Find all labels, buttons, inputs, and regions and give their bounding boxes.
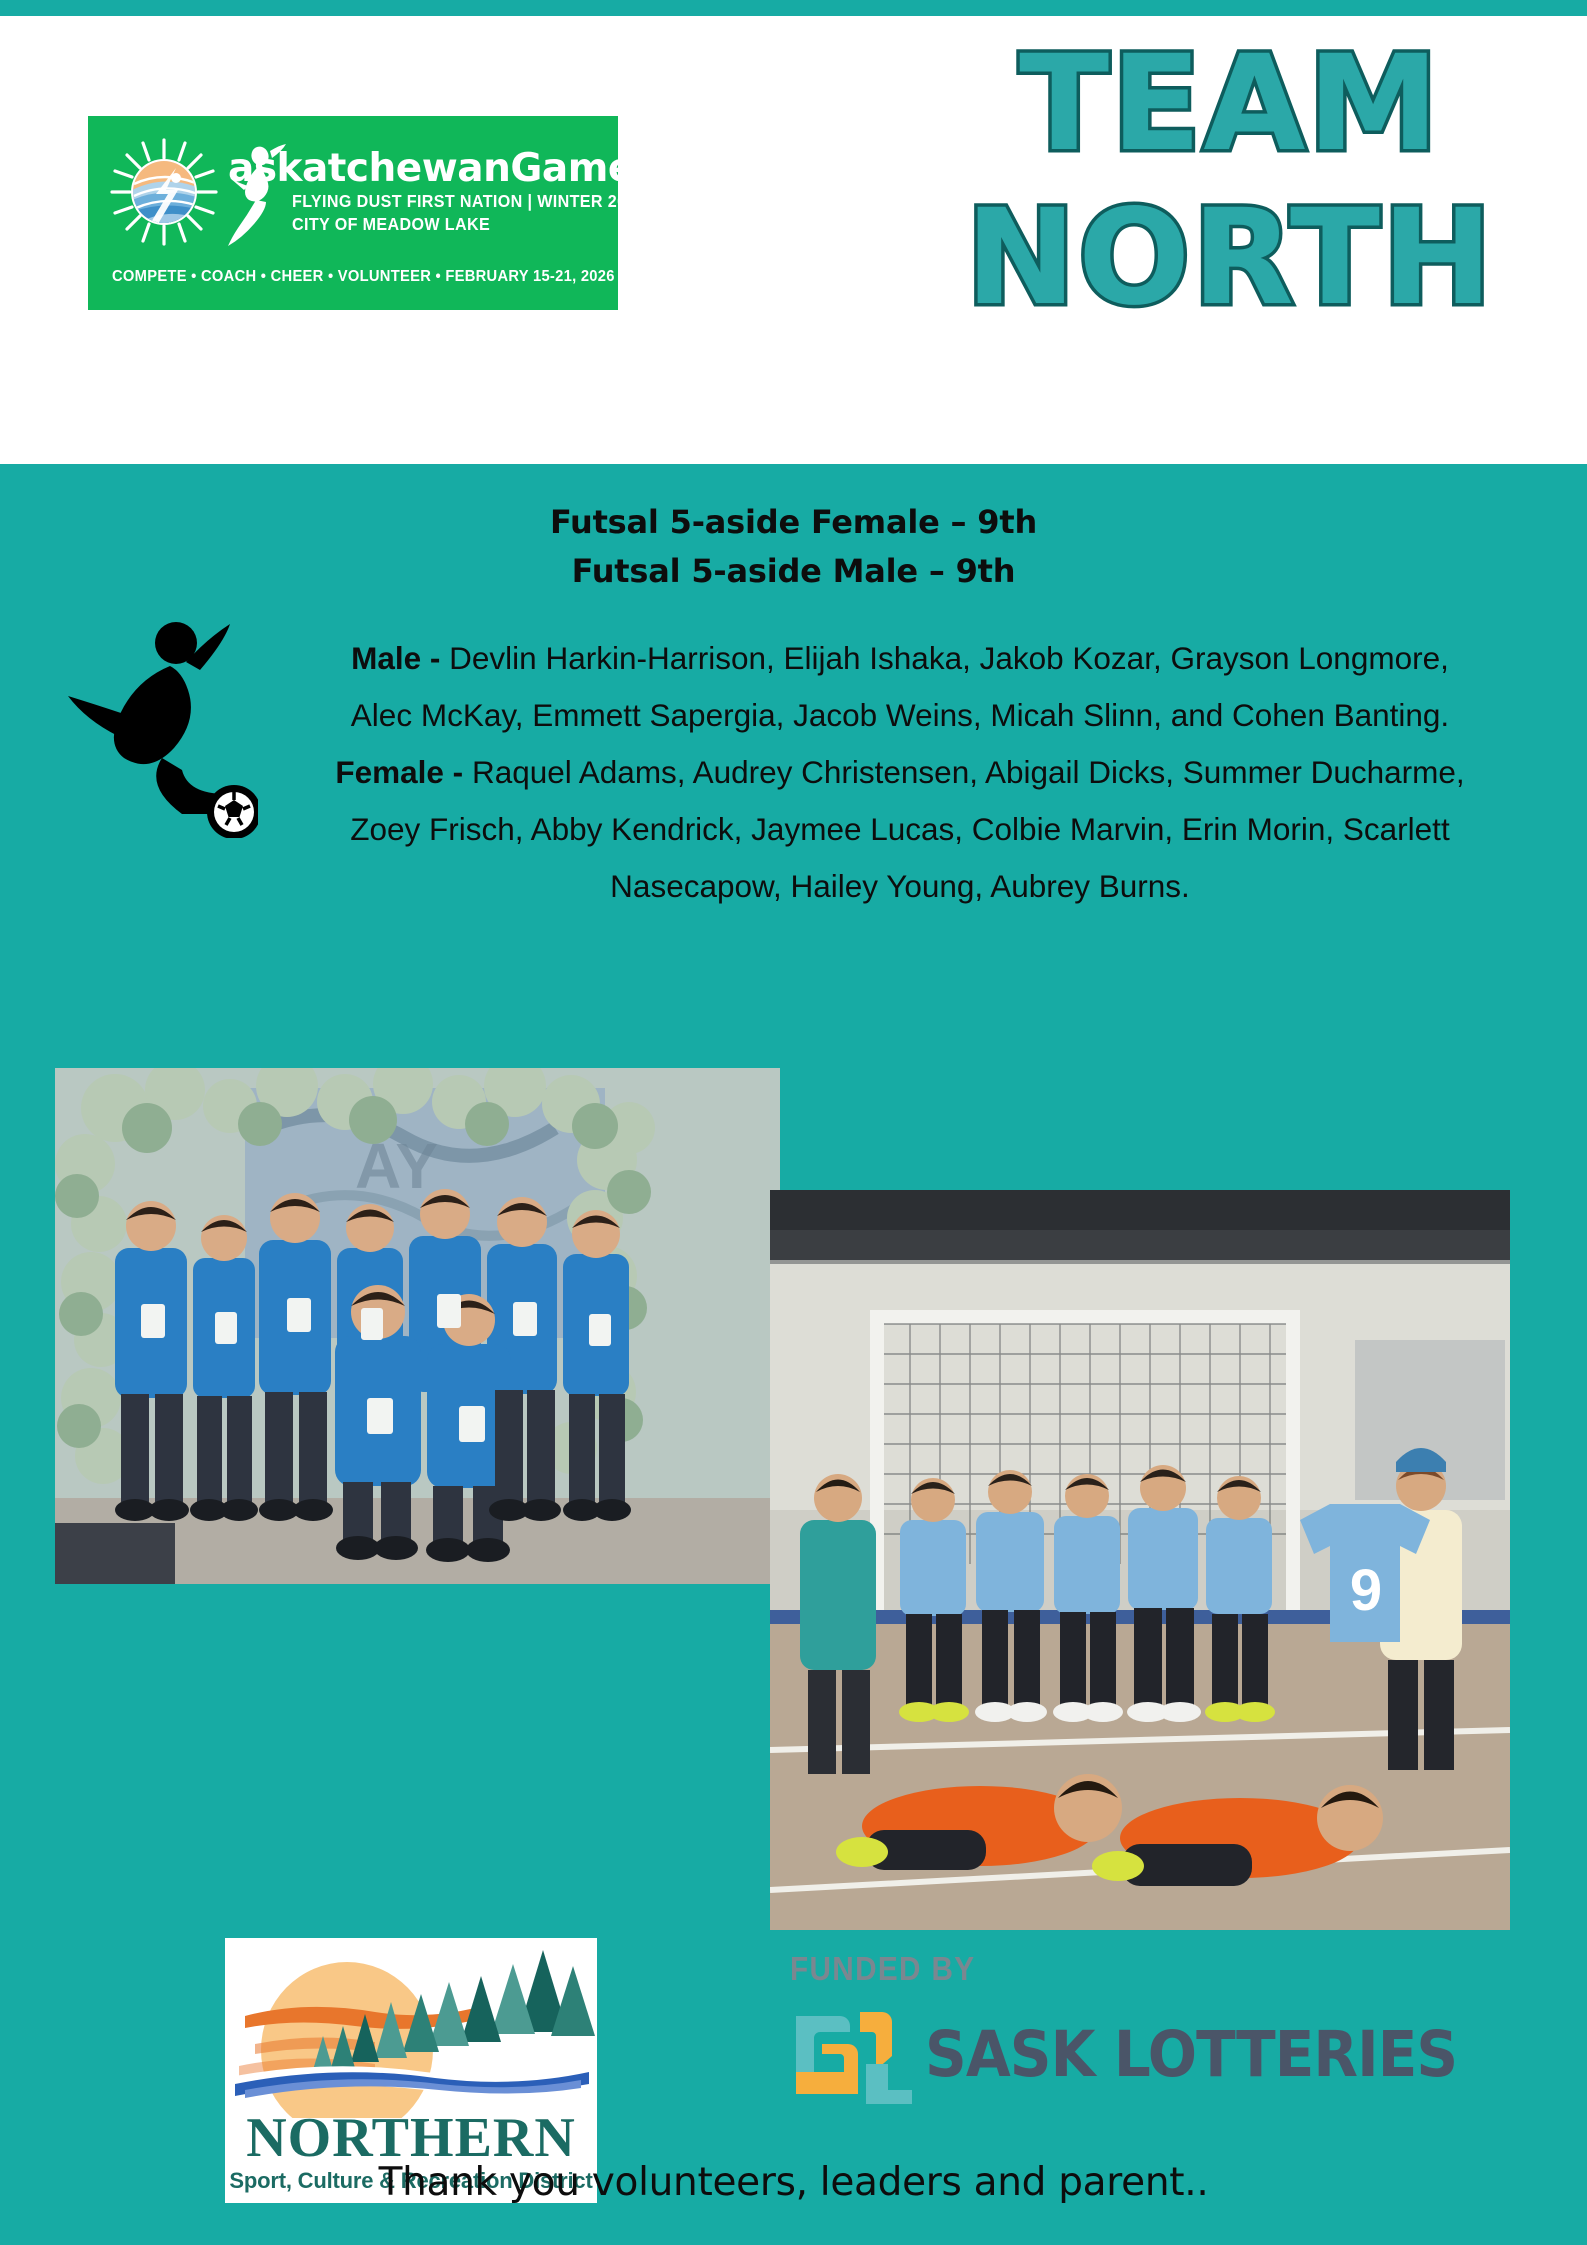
result-line-female: Futsal 5-aside Female – 9th xyxy=(0,498,1587,547)
futsal-team-photo-gymnasium-goal: 9 xyxy=(770,1190,1510,1930)
sport-results: Futsal 5-aside Female – 9th Futsal 5-asi… xyxy=(0,498,1587,596)
soccer-player-with-ball-icon xyxy=(58,618,258,838)
snowflake-sun-water-icon xyxy=(110,138,218,246)
title-line-team: TEAM xyxy=(900,38,1560,170)
top-accent-strip xyxy=(0,0,1587,16)
team-group-photo-balloon-arch: AY xyxy=(55,1068,780,1584)
sask-games-subtitle-1: FLYING DUST FIRST NATION | WINTER 2026 xyxy=(292,191,645,212)
male-names: Devlin Harkin-Harrison, Elijah Ishaka, J… xyxy=(351,640,1449,733)
female-label: Female - xyxy=(335,754,463,790)
male-label: Male - xyxy=(351,640,440,676)
sask-games-tagline: COMPETE • COACH • CHEER • VOLUNTEER • FE… xyxy=(112,268,753,286)
sask-lotteries-mark-icon xyxy=(790,2010,915,2115)
svg-text:9: 9 xyxy=(1350,1558,1382,1623)
sunset-trees-river-icon xyxy=(225,1938,597,2118)
sask-games-wordmark: askatchewanGames xyxy=(228,146,657,191)
footer-thank-you: Thank you volunteers, leaders and parent… xyxy=(0,2160,1587,2205)
female-names: Raquel Adams, Audrey Christensen, Abigai… xyxy=(350,754,1464,904)
sask-games-subtitle-2: CITY OF MEADOW LAKE xyxy=(292,214,490,235)
result-line-male: Futsal 5-aside Male – 9th xyxy=(0,547,1587,596)
sask-lotteries-wordmark: SASK LOTTERIES xyxy=(925,2018,1457,2091)
page-title: TEAM NORTH xyxy=(900,38,1560,324)
roster-text: Male - Devlin Harkin-Harrison, Elijah Is… xyxy=(330,630,1470,915)
title-line-north: NORTH xyxy=(900,192,1560,324)
saskatchewan-games-banner: askatchewanGames FLYING DUST FIRST NATIO… xyxy=(88,116,618,310)
funded-by-label: FUNDED BY xyxy=(790,1950,975,1988)
northern-wordmark: NORTHERN xyxy=(225,2110,597,2166)
